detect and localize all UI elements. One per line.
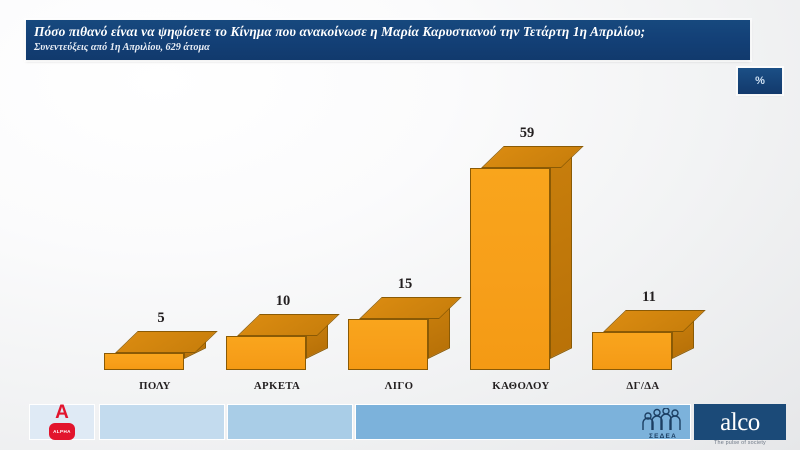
sedea-logo: ΣΕΔΕΑ — [634, 406, 692, 440]
alpha-logo-tag: ALPHA — [49, 423, 75, 440]
bar-group[interactable]: 15 — [348, 276, 450, 370]
bar-3d[interactable] — [470, 146, 572, 370]
bar-front-face — [104, 353, 184, 370]
category-label-0: ΠΟΛΥ — [95, 380, 215, 392]
category-label-2: ΛΙΓΟ — [339, 380, 459, 392]
bar-front-face — [592, 332, 672, 370]
alpha-logo: A ALPHA — [49, 405, 75, 440]
alco-logo: alco — [694, 404, 786, 440]
page-subtitle: Συνεντεύξεις από 1η Απριλίου, 629 άτομα — [34, 41, 750, 55]
bar-group[interactable]: 5 — [104, 310, 206, 370]
broadcaster-logo-cell: A ALPHA — [29, 404, 95, 440]
bar-side-face — [550, 147, 572, 359]
bar-group[interactable]: 59 — [470, 125, 572, 370]
sedea-label: ΣΕΔΕΑ — [649, 433, 677, 440]
page-title: Πόσο πιθανό είναι να ψηφίσετε το Κίνημα … — [34, 23, 750, 40]
bar-value-label: 11 — [642, 289, 656, 306]
bar-3d[interactable] — [104, 331, 206, 370]
people-group-icon — [639, 408, 687, 432]
category-label-4: ΔΓ/ΔΑ — [583, 380, 703, 392]
bar-value-label: 59 — [520, 125, 535, 142]
bar-front-face — [226, 336, 306, 370]
footer-bar: A ALPHA ΣΕΔΕΑ alco The pulse of society — [0, 400, 800, 450]
category-label-3: ΚΑΘΟΛΟΥ — [461, 380, 581, 392]
category-axis: ΠΟΛΥΑΡΚΕΤΑΛΙΓΟΚΑΘΟΛΟΥΔΓ/ΔΑ — [0, 380, 800, 398]
category-label-1: ΑΡΚΕΤΑ — [217, 380, 337, 392]
bar-3d[interactable] — [592, 310, 694, 370]
bar-chart-plot-area: 510155911 — [0, 60, 800, 380]
footer-segment-1 — [99, 404, 225, 440]
bar-value-label: 10 — [276, 293, 291, 310]
bar-3d[interactable] — [226, 314, 328, 370]
bar-group[interactable]: 11 — [592, 289, 694, 370]
bar-front-face — [348, 319, 428, 370]
bar-front-face — [470, 168, 550, 370]
bar-value-label: 5 — [157, 310, 164, 327]
bar-3d[interactable] — [348, 297, 450, 370]
footer-segment-2 — [227, 404, 353, 440]
alco-logo-text: alco — [720, 410, 760, 435]
alpha-logo-letter: A — [55, 402, 69, 423]
chart-title-bar: Πόσο πιθανό είναι να ψηφίσετε το Κίνημα … — [26, 20, 750, 60]
bar-group[interactable]: 10 — [226, 293, 328, 370]
bar-value-label: 15 — [398, 276, 413, 293]
alco-tagline: The pulse of society — [694, 440, 786, 446]
